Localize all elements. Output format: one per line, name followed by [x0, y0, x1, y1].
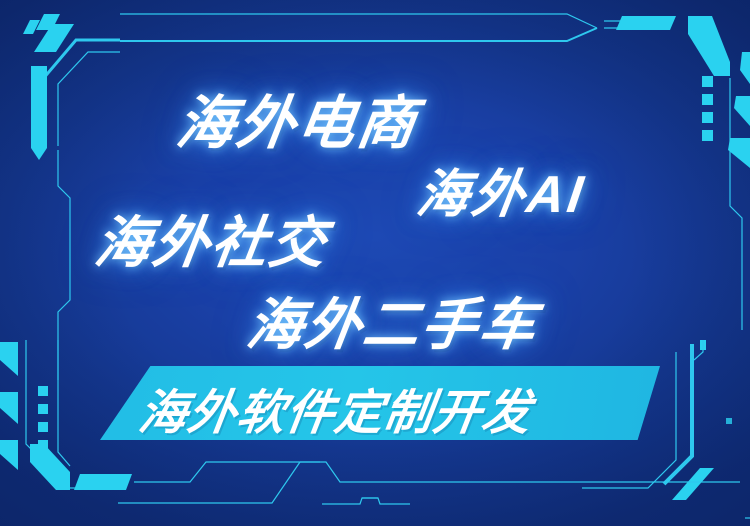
banner-label: 海外软件定制开发: [135, 373, 537, 443]
headline-overseas-ai: 海外AI: [413, 152, 592, 227]
headline-group: 海外电商 海外AI 海外社交 海外二手车: [0, 0, 750, 526]
headline-overseas-used-car: 海外二手车: [242, 280, 543, 361]
banner-overseas-software-development: 海外软件定制开发: [100, 366, 660, 440]
headline-overseas-social: 海外社交: [90, 198, 333, 279]
poster-canvas: 海外电商 海外AI 海外社交 海外二手车 海外软件定制开发: [0, 0, 750, 526]
headline-overseas-ecommerce: 海外电商: [172, 76, 424, 160]
